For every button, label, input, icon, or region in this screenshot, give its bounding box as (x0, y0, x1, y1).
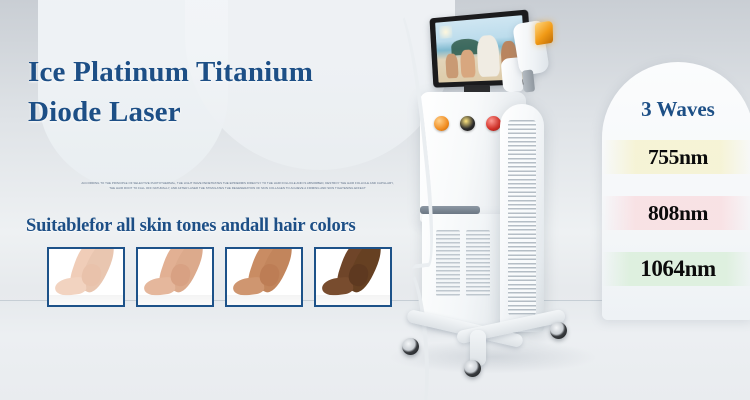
headline-line-2: Diode Laser (28, 92, 388, 132)
fineprint-paragraph: ACCORDING TO THE PRINCIPLE OF SELECTIVE … (80, 181, 395, 191)
handpiece-neck (522, 69, 535, 92)
beach-person (460, 49, 475, 78)
caster-wheel (402, 338, 419, 355)
vent-grille-right (466, 230, 490, 296)
skin-tone-gallery (47, 247, 392, 307)
laser-machine (398, 8, 598, 378)
caster-wheel (464, 360, 481, 377)
handpiece-laser-tip (535, 20, 553, 45)
control-knob-red[interactable] (486, 116, 501, 131)
sun-glow (439, 25, 453, 39)
side-vent-grille (508, 120, 536, 315)
wavelength-1064: 1064nm (602, 252, 750, 286)
skin-tone-photo-2 (136, 247, 214, 307)
skin-tone-photo-4 (314, 247, 392, 307)
control-knob-orange[interactable] (434, 116, 449, 131)
leg-illustration (227, 249, 301, 305)
beach-person (476, 35, 500, 77)
page-title: Ice Platinum Titanium Diode Laser (28, 52, 388, 132)
wavelength-755: 755nm (602, 140, 750, 174)
control-knob-black-yellow[interactable] (460, 116, 475, 131)
skin-tone-photo-1 (47, 247, 125, 307)
leg-illustration (49, 249, 123, 305)
headline-line-1: Ice Platinum Titanium (28, 56, 313, 88)
leg-illustration (138, 249, 212, 305)
wavelength-808: 808nm (602, 196, 750, 230)
leg-illustration (316, 249, 390, 305)
vent-grille-left (436, 230, 460, 296)
subheadline: Suitablefor all skin tones andall hair c… (26, 216, 426, 237)
beach-person (445, 54, 458, 79)
product-banner: Ice Platinum Titanium Diode Laser ACCORD… (0, 0, 750, 400)
caster-wheel (550, 322, 567, 339)
skin-tone-photo-3 (225, 247, 303, 307)
waves-panel-title: 3 Waves (602, 97, 750, 122)
